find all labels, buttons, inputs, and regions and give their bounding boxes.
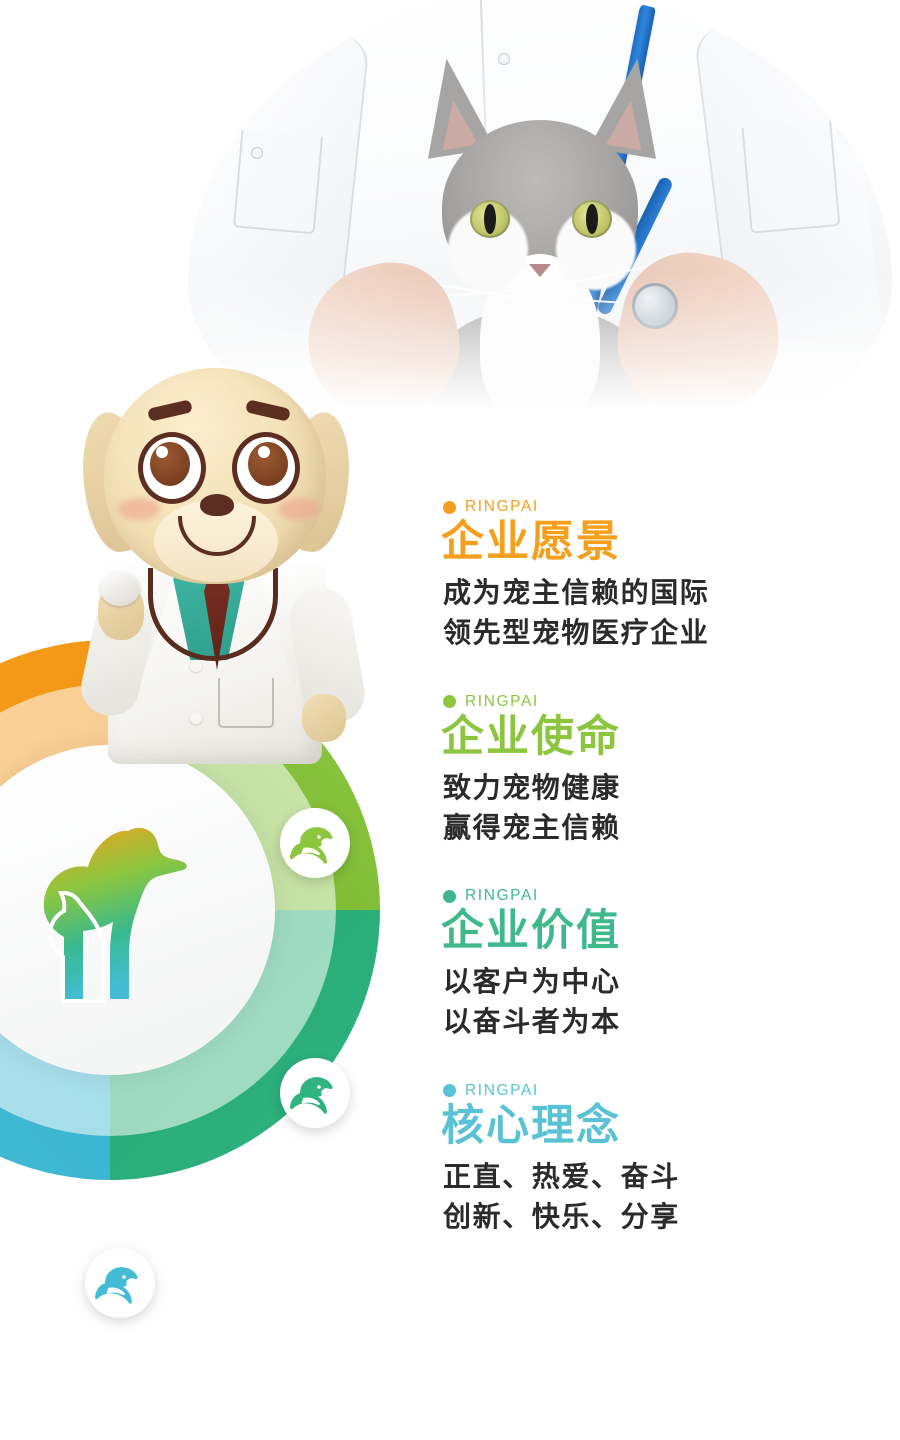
kicker-beliefs: RINGPAI bbox=[443, 1082, 863, 1100]
brand-label: RINGPAI bbox=[465, 498, 539, 516]
mascot-blush-icon bbox=[118, 498, 160, 520]
mascot-hand-right-icon bbox=[302, 694, 346, 742]
poster-page: RINGPAI 企业愿景 成为宠主信赖的国际 领先型宠物医疗企业 RINGPAI… bbox=[0, 0, 900, 1440]
mascot-pocket-icon bbox=[218, 678, 274, 728]
mascot-eye-glint-icon bbox=[258, 446, 270, 458]
section-title-vision: 企业愿景 bbox=[441, 518, 863, 566]
bullet-dot-icon bbox=[443, 501, 456, 514]
badge-cyan[interactable] bbox=[85, 1248, 155, 1318]
section-line: 以奋斗者为本 bbox=[443, 1002, 863, 1042]
dog-doctor-mascot-icon bbox=[82, 358, 352, 768]
content-sections: RINGPAI 企业愿景 成为宠主信赖的国际 领先型宠物医疗企业 RINGPAI… bbox=[443, 498, 863, 1277]
mascot-stethoscope-head-icon bbox=[100, 572, 140, 606]
coat-pocket-right-icon bbox=[741, 120, 840, 233]
kicker-vision: RINGPAI bbox=[443, 498, 863, 516]
dog-and-cat-silhouette-icon bbox=[20, 815, 200, 1005]
section-title-beliefs: 核心理念 bbox=[441, 1102, 863, 1150]
section-line: 成为宠主信赖的国际 bbox=[443, 573, 863, 613]
mascot-eye-glint-icon bbox=[156, 446, 168, 458]
badge-green[interactable] bbox=[280, 808, 350, 878]
kitten-pupil-icon bbox=[586, 204, 598, 234]
section-line: 领先型宠物医疗企业 bbox=[443, 613, 863, 653]
section-values: RINGPAI 企业价值 以客户为中心 以奋斗者为本 bbox=[443, 887, 863, 1042]
badge-teal[interactable] bbox=[280, 1058, 350, 1128]
section-line: 致力宠物健康 bbox=[443, 768, 863, 808]
brand-label: RINGPAI bbox=[465, 887, 539, 905]
kicker-values: RINGPAI bbox=[443, 887, 863, 905]
mascot-coat-button-icon bbox=[190, 712, 202, 724]
kicker-mission: RINGPAI bbox=[443, 693, 863, 711]
coat-pocket-left-icon bbox=[233, 130, 323, 235]
brand-label: RINGPAI bbox=[465, 1082, 539, 1100]
bullet-dot-icon bbox=[443, 695, 456, 708]
bullet-dot-icon bbox=[443, 890, 456, 903]
brand-label: RINGPAI bbox=[465, 693, 539, 711]
dog-leaf-logo-icon bbox=[95, 1258, 145, 1308]
mascot-nose-icon bbox=[200, 494, 234, 516]
section-title-values: 企业价值 bbox=[441, 907, 863, 955]
section-beliefs: RINGPAI 核心理念 正直、热爱、奋斗 创新、快乐、分享 bbox=[443, 1082, 863, 1237]
mascot-coat-button-icon bbox=[190, 660, 202, 672]
section-vision: RINGPAI 企业愿景 成为宠主信赖的国际 领先型宠物医疗企业 bbox=[443, 498, 863, 653]
mascot-blush-icon bbox=[278, 498, 320, 520]
section-mission: RINGPAI 企业使命 致力宠物健康 赢得宠主信赖 bbox=[443, 693, 863, 848]
dog-leaf-logo-icon bbox=[290, 818, 340, 868]
kitten-pupil-icon bbox=[484, 204, 496, 234]
bullet-dot-icon bbox=[443, 1084, 456, 1097]
section-line: 赢得宠主信赖 bbox=[443, 808, 863, 848]
section-line: 正直、热爱、奋斗 bbox=[443, 1157, 863, 1197]
dog-leaf-logo-icon bbox=[290, 1068, 340, 1118]
section-line: 以客户为中心 bbox=[443, 962, 863, 1002]
section-title-mission: 企业使命 bbox=[441, 713, 863, 761]
section-line: 创新、快乐、分享 bbox=[443, 1197, 863, 1237]
